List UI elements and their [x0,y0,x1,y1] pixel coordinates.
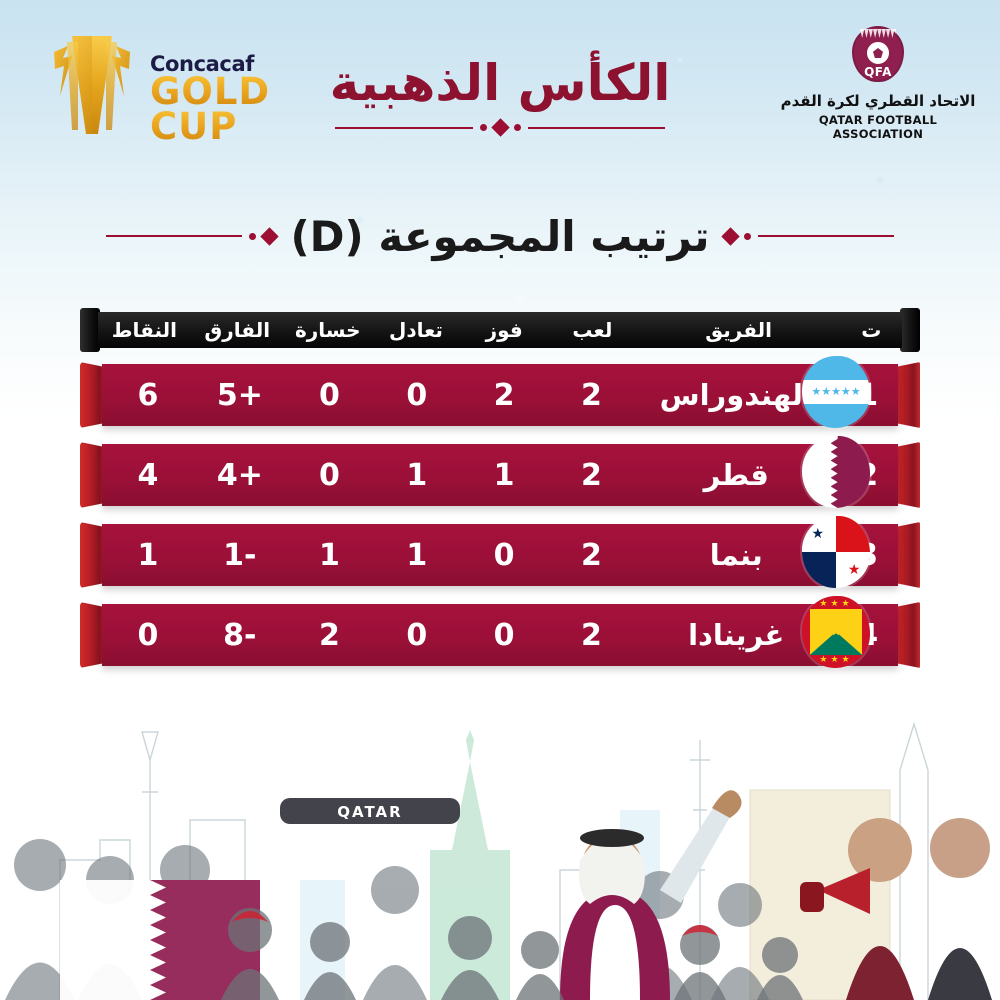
standings-table: ت الفريق لعب فوز تعادل خسارة الفارق النق… [0,312,1000,672]
group-standings-subtitle: ترتيب المجموعة (D) [290,212,709,261]
panama-blue-star: ★ [812,526,825,542]
cell-played: 2 [548,538,635,573]
column-header-lost: خسارة [284,318,372,342]
crowd-of-fans-icon: QATAR [0,770,1000,1000]
qatar-flag-icon [802,436,870,508]
panama-quadrant-blue [802,552,836,588]
row-banner: 3 بنما 2 0 1 1 -1 1 [102,524,898,586]
cell-win: 0 [460,618,547,653]
cell-played: 2 [548,458,635,493]
table-header-row: ت الفريق لعب فوز تعادل خسارة الفارق النق… [98,312,902,348]
football-icon [865,40,891,66]
cell-lost: 0 [286,378,373,413]
column-header-team: الفريق [636,318,840,342]
qfa-english-name: QATAR FOOTBALL ASSOCIATION [778,113,978,141]
cell-draw: 1 [373,458,460,493]
cell-points: 6 [102,378,194,413]
poster-canvas: Concacaf GOLD CUP الكأس الذهبية QFA [0,0,1000,1000]
honduras-flag-icon: ★★★★★ [802,356,870,428]
panama-flag-icon: ★ ★ [802,516,870,588]
column-header-draw: تعادل [372,318,460,342]
ornament-line [758,235,894,237]
ornament-line [106,235,242,237]
cell-draw: 0 [373,378,460,413]
qatar-flag-maroon-band [831,436,870,508]
subtitle-ornament-left [106,230,276,243]
qfa-badge-icon: QFA [852,26,904,82]
cell-goal-difference: +5 [194,378,286,413]
ornament-line-left [335,127,473,129]
ornament-dot-right [514,124,521,131]
svg-text:QATAR: QATAR [337,803,402,821]
table-row: 1 الهندوراس 2 2 0 0 +5 6 ★★★★★ [80,360,920,432]
row-banner: 1 الهندوراس 2 2 0 0 +5 6 [102,364,898,426]
ornament-diamond [721,227,739,245]
qatar-flag-held [60,880,260,1000]
grenada-bottom-stars: ★★★ [802,655,870,665]
cell-goal-difference: -8 [194,618,286,653]
ornament-diamond [261,227,279,245]
cell-lost: 2 [286,618,373,653]
cell-played: 2 [548,378,635,413]
panama-red-star: ★ [848,562,861,578]
title-ornament [335,119,665,137]
column-header-gd: الفارق [191,318,284,342]
cell-lost: 1 [286,538,373,573]
ornament-dot [744,233,751,240]
cell-goal-difference: +4 [194,458,286,493]
table-row: 3 بنما 2 0 1 1 -1 1 ★ ★ [80,520,920,592]
poster-header: Concacaf GOLD CUP الكأس الذهبية QFA [0,0,1000,175]
column-header-rank: ت [841,318,902,342]
grenada-top-stars: ★★★ [802,599,870,609]
cell-draw: 0 [373,618,460,653]
cell-win: 0 [460,538,547,573]
cell-points: 4 [102,458,194,493]
grenada-flag-icon: ★★★ ★ ★★★ [802,596,870,668]
table-row: 2 قطر 2 1 1 0 +4 4 [80,440,920,512]
cell-played: 2 [548,618,635,653]
table-row: 4 غرينادا 2 0 0 2 -8 0 ★★★ ★ ★★★ [80,600,920,672]
column-header-points: النقاط [98,318,191,342]
fans-illustration: QATAR [0,670,1000,1000]
panama-quadrant-red [836,516,870,552]
column-header-win: فوز [460,318,548,342]
ornament-line-right [528,127,666,129]
megaphone-fan [800,818,914,1000]
ornament-dot-left [480,124,487,131]
subtitle-ornament-right [724,230,894,243]
cell-draw: 1 [373,538,460,573]
column-header-played: لعب [548,318,636,342]
cell-points: 0 [102,618,194,653]
cell-goal-difference: -1 [194,538,286,573]
ornament-dot [249,233,256,240]
row-banner: 4 غرينادا 2 0 0 2 -8 0 [102,604,898,666]
honduras-stars: ★★★★★ [802,385,870,399]
qatar-banner: QATAR [280,798,460,824]
qfa-initials: QFA [852,65,904,79]
cell-win: 1 [460,458,547,493]
qfa-logo: QFA الاتحاد القطري لكرة القدم QATAR FOOT… [778,26,978,141]
cell-win: 2 [460,378,547,413]
table-header-ribbon: ت الفريق لعب فوز تعادل خسارة الفارق النق… [80,312,920,352]
cell-lost: 0 [286,458,373,493]
subtitle-block: ترتيب المجموعة (D) [0,196,1000,276]
shouting-fan-right [928,818,992,1000]
ornament-diamond [491,118,509,136]
qfa-arabic-name: الاتحاد القطري لكرة القدم [778,92,978,112]
ribbon-fold-right [900,308,920,352]
row-banner: 2 قطر 2 1 1 0 +4 4 [102,444,898,506]
cell-points: 1 [102,538,194,573]
grenada-center-star: ★ [830,625,842,640]
